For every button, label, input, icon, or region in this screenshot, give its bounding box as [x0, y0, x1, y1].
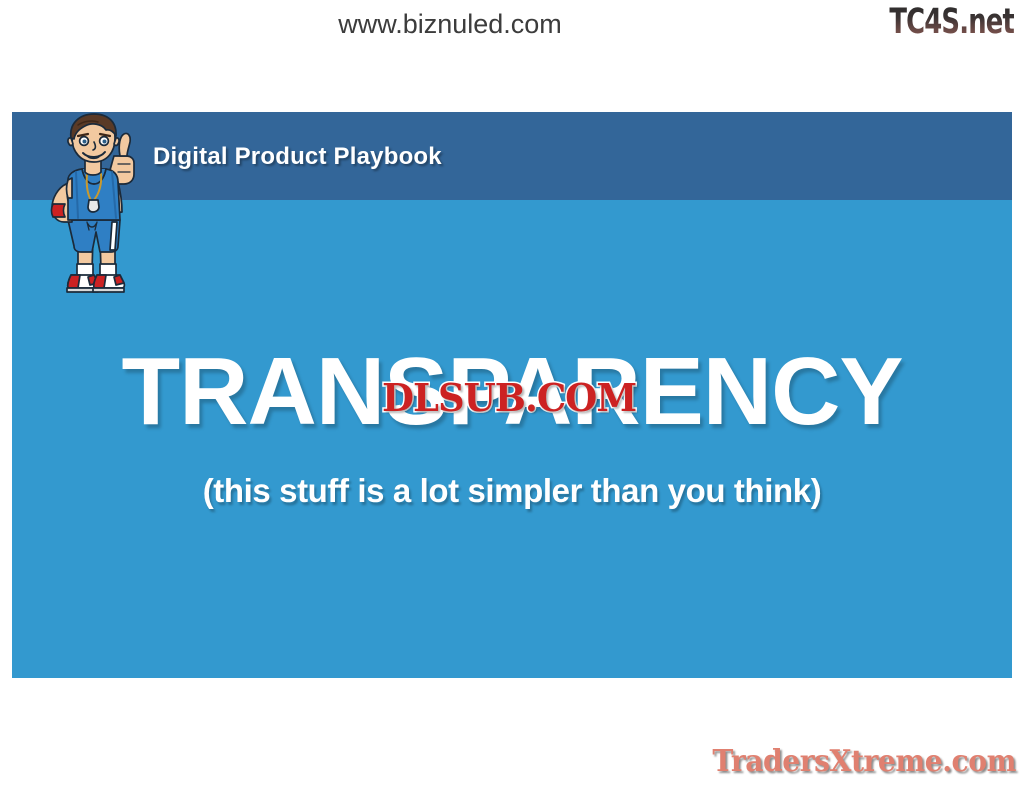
dlsub-overlay-watermark: DLSUB.COM	[382, 375, 636, 420]
coach-thumbs-up-character-icon	[38, 112, 142, 296]
slide-subheadline: (this stuff is a lot simpler than you th…	[12, 472, 1012, 510]
tradersxtreme-footer-watermark: TradersXtreme.com	[712, 744, 1016, 779]
tc4s-brand-logo: TC4S.net	[889, 2, 1014, 42]
site-url-text: www.biznuled.com	[0, 9, 900, 40]
presentation-slide: Digital Product Playbook TRANSPARENCY (t…	[12, 112, 1012, 678]
top-watermark-bar: www.biznuled.com TC4S.net	[0, 0, 1024, 100]
